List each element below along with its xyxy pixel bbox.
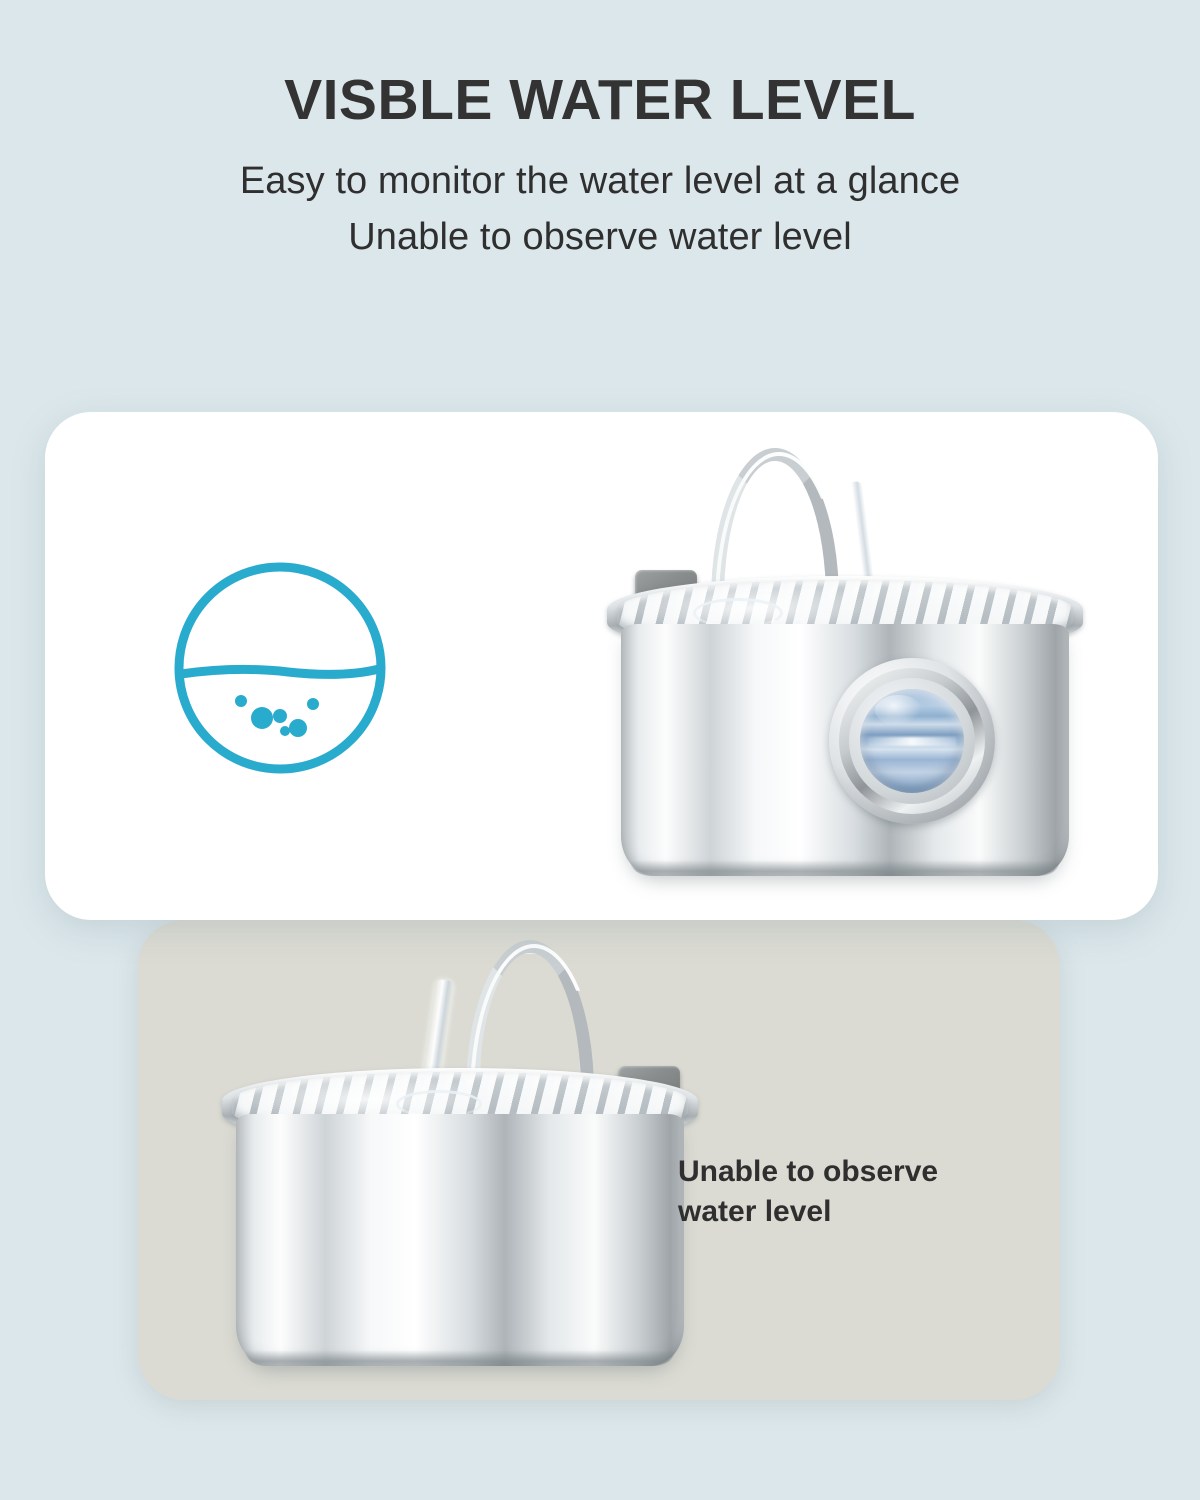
- fountain-without-window: [200, 938, 720, 1380]
- fountain-tank-body: [236, 1114, 684, 1366]
- caption-line-1: Unable to observe: [678, 1152, 1038, 1192]
- window-water-view: [860, 689, 964, 793]
- subtitle-line-2: Unable to observe water level: [0, 209, 1200, 265]
- water-level-icon-svg: [168, 556, 393, 781]
- top-feature-card: [45, 412, 1158, 920]
- fountain-tank-body: [621, 624, 1069, 876]
- caption-line-2: water level: [678, 1192, 1038, 1232]
- subtitle-line-1: Easy to monitor the water level at a gla…: [0, 129, 1200, 209]
- gray-card-caption: Unable to observe water level: [678, 1152, 1038, 1232]
- page-title: VISBLE WATER LEVEL: [0, 0, 1200, 129]
- fountain-with-window: [585, 430, 1105, 898]
- water-level-circle-icon: [168, 556, 393, 781]
- bottom-comparison-card: Unable to observe water level: [138, 920, 1060, 1400]
- header-block: VISBLE WATER LEVEL Easy to monitor the w…: [0, 0, 1200, 265]
- water-level-window: [829, 658, 995, 824]
